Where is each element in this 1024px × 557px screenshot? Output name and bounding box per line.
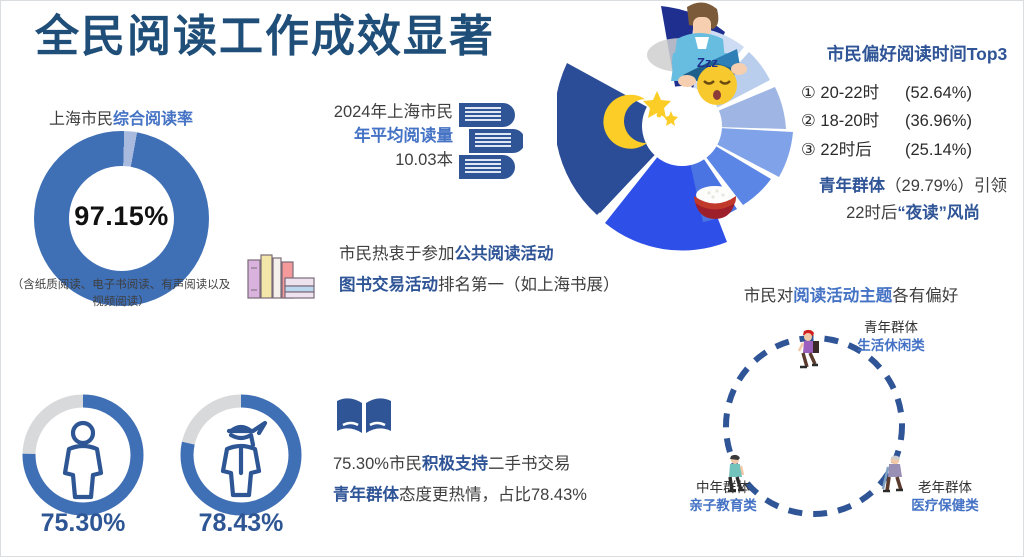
youth-note-accent2: “夜读”风尚: [897, 204, 980, 222]
second-hand-text: 75.30%市民积极支持二手书交易 青年群体态度更热情，占比78.43%: [333, 449, 663, 512]
youth-note-plain2: 22时后: [846, 204, 897, 222]
youth-note-line2: 22时后“夜读”风尚: [801, 200, 1024, 227]
time-value: (52.64%): [905, 79, 972, 107]
gauge-youth-value: 78.43%: [177, 509, 305, 538]
second-hand-line2: 青年群体态度更热情，占比78.43%: [333, 480, 663, 511]
rank-marker: ③: [801, 141, 816, 159]
time-name: 20-22时: [820, 84, 879, 102]
moon-stars-icon: [595, 85, 681, 163]
public-activity-line1-plain: 市民热衷于参加: [339, 245, 455, 263]
time-name: 18-20时: [820, 112, 879, 130]
list-item: ① 20-22时 (52.64%): [801, 79, 1024, 107]
theme-group-name: 老年群体: [885, 479, 1005, 497]
reading-rate-label: 上海市民综合阅读率: [21, 105, 221, 129]
gauge-overall-value: 75.30%: [19, 509, 147, 538]
theme-preference-heading: 市民对阅读活动主题各有偏好: [701, 282, 1001, 306]
public-activity-line2-plain: 排名第一（如上海书展）: [438, 276, 620, 294]
preferred-time-heading: 市民偏好阅读时间Top3: [809, 41, 1024, 66]
second-hand-line2-accent: 青年群体: [333, 486, 399, 504]
theme-group-name: 青年群体: [831, 319, 951, 337]
gauge-youth-support: [177, 391, 305, 519]
young-walker-icon: [796, 329, 822, 369]
avg-books-line1: 2024年上海市民: [273, 101, 453, 125]
youth-night-reading-note: 青年群体（29.79%）引领 22时后“夜读”风尚: [801, 173, 1024, 226]
infographic-page: 全民阅读工作成效显著 上海市民综合阅读率 97.15% （含纸质阅读、电子书阅读…: [0, 0, 1024, 557]
reading-rate-note: （含纸质阅读、电子书阅读、有声阅读以及视频阅读）: [11, 277, 231, 310]
second-hand-line1-accent: 积极支持: [422, 455, 488, 473]
second-hand-line2-plain: 态度更热情，占比78.43%: [399, 486, 587, 504]
svg-text:Zzz: Zzz: [697, 55, 718, 70]
public-activity-line2: 图书交易活动排名第一（如上海书展）: [339, 270, 669, 301]
avg-books-line3: 10.03本: [273, 149, 453, 173]
public-activity-line2-accent: 图书交易活动: [339, 276, 438, 294]
youth-note-plain: （29.79%）引领: [885, 177, 1007, 195]
time-value: (25.14%): [905, 136, 972, 164]
sleeping-face-icon: Zzz: [691, 55, 743, 107]
avg-books-line2: 年平均阅读量: [273, 125, 453, 149]
theme-label-elderly: 老年群体 医疗保健类: [885, 479, 1005, 515]
rice-bowl-icon: [687, 177, 743, 225]
reading-rate-label-plain: 上海市民: [49, 111, 113, 128]
second-hand-line1-plain1: 75.30%市民: [333, 455, 422, 473]
avg-books-text: 2024年上海市民 年平均阅读量 10.03本: [273, 101, 453, 173]
youth-note-line1: 青年群体（29.79%）引领: [801, 173, 1024, 200]
theme-heading-plain1: 市民对: [744, 287, 794, 305]
theme-group-theme: 亲子教育类: [663, 497, 783, 515]
second-hand-line1-plain2: 二手书交易: [488, 455, 571, 473]
theme-group-name: 中年群体: [663, 479, 783, 497]
time-value: (36.96%): [905, 107, 972, 135]
youth-note-accent: 青年群体: [819, 177, 885, 195]
theme-heading-plain2: 各有偏好: [892, 287, 958, 305]
open-book-icon: [334, 395, 394, 437]
time-name: 22时后: [820, 141, 871, 159]
public-activity-line1-accent: 公共阅读活动: [455, 245, 554, 263]
list-item: ② 18-20时 (36.96%): [801, 107, 1024, 135]
stacked-books-icon: [453, 97, 523, 187]
rank-marker: ①: [801, 84, 816, 102]
theme-group-theme: 生活休闲类: [831, 337, 951, 355]
theme-label-young: 青年群体 生活休闲类: [831, 319, 951, 355]
theme-group-theme: 医疗保健类: [885, 497, 1005, 515]
preferred-time-list: ① 20-22时 (52.64%) ② 18-20时 (36.96%) ③ 22…: [801, 79, 1024, 164]
list-item: ③ 22时后 (25.14%): [801, 136, 1024, 164]
pastel-books-icon: [244, 250, 318, 302]
second-hand-line1: 75.30%市民积极支持二手书交易: [333, 449, 663, 480]
theme-heading-accent: 阅读活动主题: [793, 287, 892, 305]
gauge-overall-support: [19, 391, 147, 519]
theme-label-middle-aged: 中年群体 亲子教育类: [663, 479, 783, 515]
rank-marker: ②: [801, 112, 816, 130]
donut-center-value: 97.15%: [34, 201, 209, 232]
reading-rate-label-accent: 综合阅读率: [113, 111, 193, 128]
page-title: 全民阅读工作成效显著: [35, 15, 495, 59]
